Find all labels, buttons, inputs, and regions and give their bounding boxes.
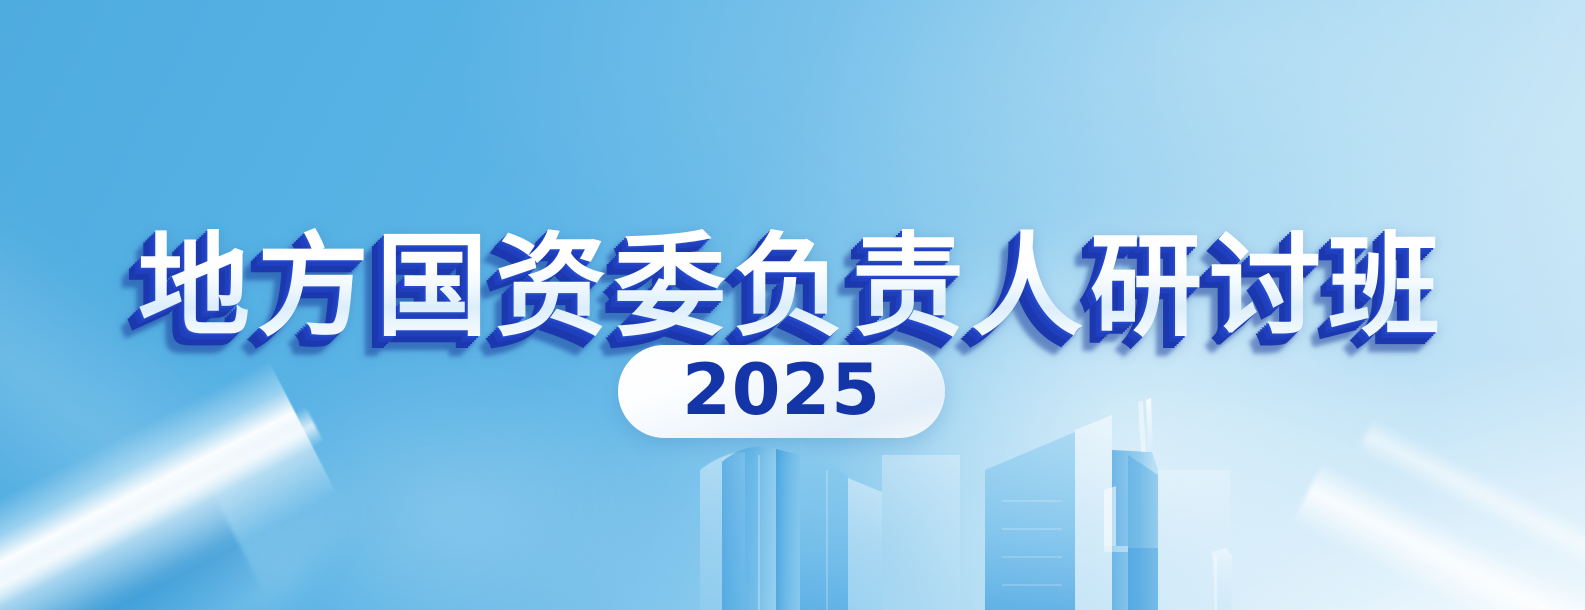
page-title: 地方国资委负责人研讨班: [138, 225, 1447, 350]
light-streak-bottom-right-icon: [1292, 462, 1585, 610]
skyline-group-center: [722, 440, 960, 610]
year-badge-label: 2025: [682, 355, 881, 425]
light-streak-bottom-right-secondary-icon: [1357, 418, 1585, 610]
skyline-window-rows: [1002, 500, 1062, 586]
skyline-group-right: [985, 398, 1232, 610]
event-banner: 地方国资委负责人研讨班 2025: [0, 0, 1585, 610]
light-streak-top-right-icon: [1046, 0, 1585, 57]
year-badge: 2025: [618, 345, 945, 438]
light-streak-bottom-left-shadow-icon: [0, 485, 264, 610]
light-streak-bottom-left-thin-icon: [0, 407, 324, 610]
skyline-group-left: [700, 452, 745, 610]
light-streak-top-right-secondary-icon: [1146, 0, 1585, 98]
